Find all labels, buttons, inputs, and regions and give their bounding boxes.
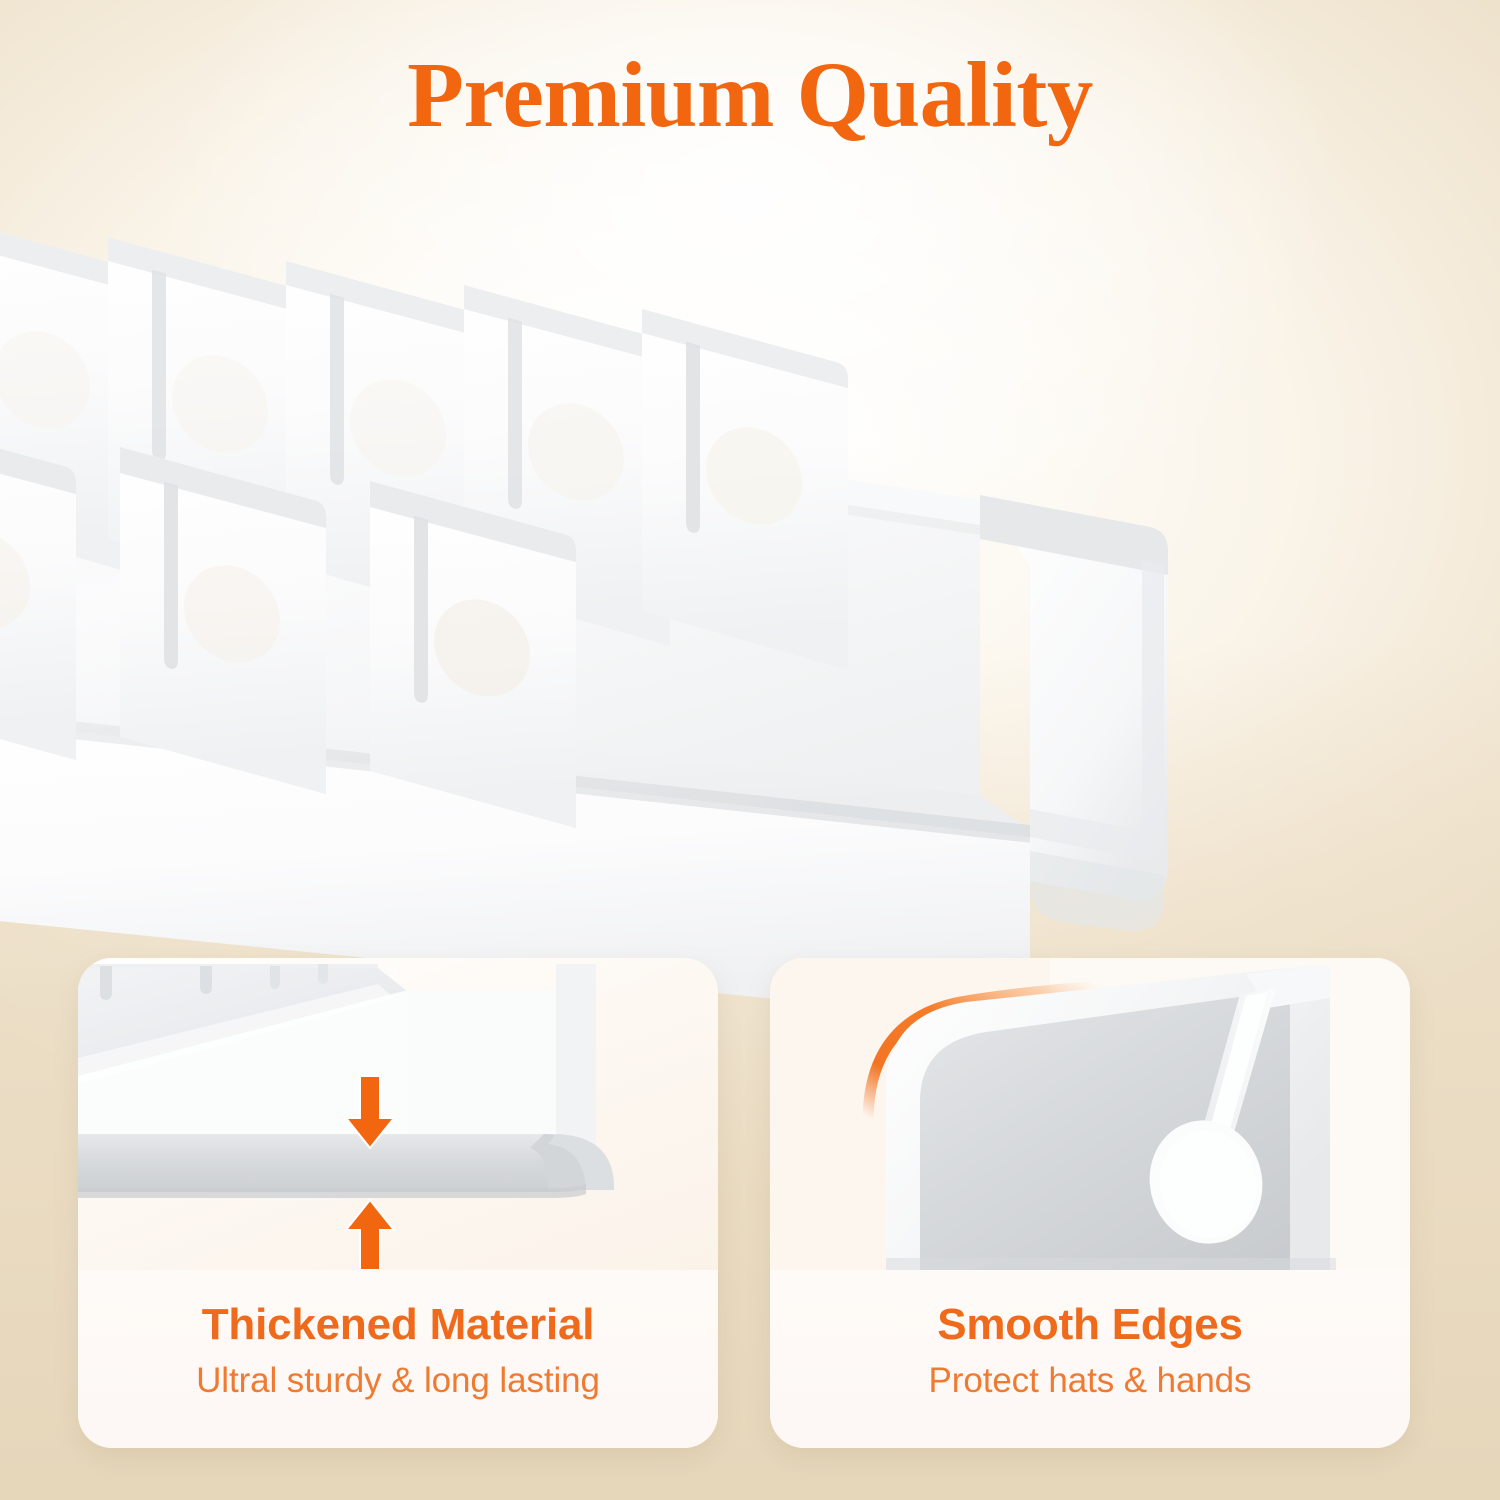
page-title: Premium Quality: [0, 42, 1500, 149]
feature-card-smooth-edges[interactable]: Smooth Edges Protect hats & hands: [770, 958, 1410, 1448]
smooth-edges-caption: Smooth Edges Protect hats & hands: [770, 1270, 1410, 1448]
feature-card-row: Thickened Material Ultral sturdy & long …: [78, 958, 1412, 1448]
product-infographic: Premium Quality: [0, 0, 1500, 1500]
feature-card-thickened-material[interactable]: Thickened Material Ultral sturdy & long …: [78, 958, 718, 1448]
feature-title: Smooth Edges: [937, 1300, 1243, 1349]
hero-product-image: [0, 95, 1280, 975]
feature-title: Thickened Material: [202, 1300, 595, 1349]
smooth-edges-photo: [770, 958, 1410, 1270]
thickened-material-photo: [78, 958, 718, 1270]
feature-subtitle: Ultral sturdy & long lasting: [196, 1361, 600, 1401]
feature-subtitle: Protect hats & hands: [929, 1361, 1252, 1401]
arrow-up-icon: [346, 1200, 394, 1270]
thickened-material-caption: Thickened Material Ultral sturdy & long …: [78, 1270, 718, 1448]
